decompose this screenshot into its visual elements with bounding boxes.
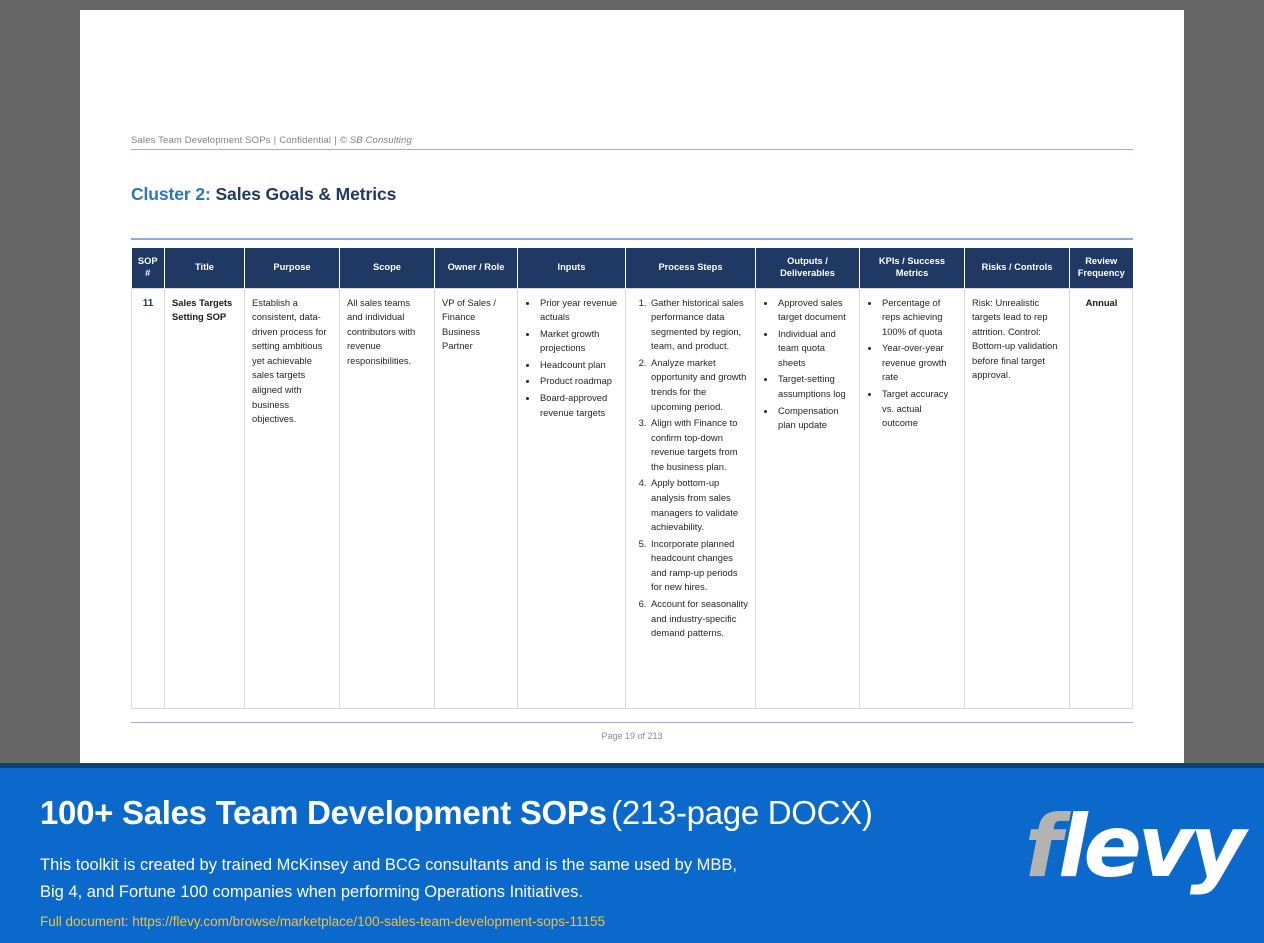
inputs-list: Prior year revenue actualsMarket growth … bbox=[525, 296, 619, 421]
running-header-copyright: © SB Consulting bbox=[340, 135, 412, 146]
cell-inputs: Prior year revenue actualsMarket growth … bbox=[518, 288, 626, 708]
column-header-title[interactable]: Title bbox=[165, 248, 245, 288]
outputs-list: Approved sales target documentIndividual… bbox=[763, 296, 853, 433]
page-number-label: Page 19 of 213 bbox=[131, 731, 1133, 741]
outputs-header-line-1: Outputs / bbox=[787, 256, 828, 266]
cell-title: Sales Targets Setting SOP bbox=[165, 288, 245, 708]
cluster-title-prefix: Cluster 2: bbox=[131, 184, 211, 204]
cell-sop-number: 11 bbox=[132, 288, 165, 708]
running-header-line: Sales Team Development SOPs|Confidential… bbox=[131, 135, 1133, 146]
document-running-header: Sales Team Development SOPs|Confidential… bbox=[131, 135, 1133, 150]
flevy-logo-rest: levy bbox=[1058, 797, 1242, 897]
review-header-line-1: Review bbox=[1085, 256, 1117, 266]
page-title: Cluster 2: Sales Goals & Metrics bbox=[131, 184, 396, 205]
sop-header-line-2: # bbox=[145, 268, 150, 278]
promo-title-light: (213-page DOCX) bbox=[611, 794, 872, 831]
list-item: Apply bottom-up analysis from sales mana… bbox=[649, 476, 749, 534]
running-header-classification: Confidential bbox=[279, 135, 331, 146]
list-item: Analyze market opportunity and growth tr… bbox=[649, 356, 749, 414]
list-item: Board-approved revenue targets bbox=[538, 391, 619, 420]
cell-owner-role: VP of Sales / Finance Business Partner bbox=[435, 288, 518, 708]
list-item: Percentage of reps achieving 100% of quo… bbox=[880, 296, 958, 340]
list-item: Gather historical sales performance data… bbox=[649, 296, 749, 354]
promo-subtitle-line-2: Big 4, and Fortune 100 companies when pe… bbox=[40, 883, 583, 901]
cell-scope: All sales teams and individual contribut… bbox=[340, 288, 435, 708]
list-item: Year-over-year revenue growth rate bbox=[880, 341, 958, 385]
flevy-logo-f: f bbox=[1025, 797, 1058, 897]
review-header-line-2: Frequency bbox=[1078, 268, 1125, 278]
cell-kpis-success-metrics: Percentage of reps achieving 100% of quo… bbox=[860, 288, 965, 708]
outputs-header-line-2: Deliverables bbox=[780, 268, 835, 278]
list-item: Compensation plan update bbox=[776, 404, 853, 433]
column-header-scope[interactable]: Scope bbox=[340, 248, 435, 288]
list-item: Target accuracy vs. actual outcome bbox=[880, 387, 958, 431]
running-header-title: Sales Team Development SOPs bbox=[131, 135, 271, 146]
cluster-title-name: Sales Goals & Metrics bbox=[215, 184, 396, 204]
list-item: Incorporate planned headcount changes an… bbox=[649, 537, 749, 595]
document-page: Sales Team Development SOPs|Confidential… bbox=[80, 10, 1184, 763]
list-item: Align with Finance to confirm top-down r… bbox=[649, 416, 749, 474]
column-header-inputs[interactable]: Inputs bbox=[518, 248, 626, 288]
column-header-risks-controls[interactable]: Risks / Controls bbox=[965, 248, 1070, 288]
column-header-kpis-success-metrics[interactable]: KPIs / SuccessMetrics bbox=[860, 248, 965, 288]
promo-subtitle-line-1: This toolkit is created by trained McKin… bbox=[40, 856, 737, 874]
column-header-purpose[interactable]: Purpose bbox=[245, 248, 340, 288]
column-header-review-frequency[interactable]: ReviewFrequency bbox=[1070, 248, 1133, 288]
list-item: Product roadmap bbox=[538, 374, 619, 389]
kpis-header-line-2: Metrics bbox=[896, 268, 929, 278]
process-steps-list: Gather historical sales performance data… bbox=[633, 296, 749, 641]
cell-outputs-deliverables: Approved sales target documentIndividual… bbox=[756, 288, 860, 708]
list-item: Market growth projections bbox=[538, 327, 619, 356]
sop-header-line-1: SOP bbox=[138, 256, 158, 266]
document-footer: Page 19 of 213 bbox=[131, 722, 1133, 741]
kpis-header-line-1: KPIs / Success bbox=[879, 256, 945, 266]
table-header-row: SOP# Title Purpose Scope Owner / Role In… bbox=[132, 248, 1133, 288]
promo-document-link[interactable]: Full document: https://flevy.com/browse/… bbox=[40, 914, 605, 929]
title-divider-rule bbox=[131, 238, 1133, 240]
list-item: Prior year revenue actuals bbox=[538, 296, 619, 325]
running-header-separator-1: | bbox=[271, 135, 280, 146]
promo-subtitle: This toolkit is created by trained McKin… bbox=[40, 852, 737, 906]
list-item: Account for seasonality and industry-spe… bbox=[649, 597, 749, 641]
cell-review-frequency: Annual bbox=[1070, 288, 1133, 708]
list-item: Approved sales target document bbox=[776, 296, 853, 325]
running-header-separator-2: | bbox=[331, 135, 340, 146]
cell-risks-controls: Risk: Unrealistic targets lead to rep at… bbox=[965, 288, 1070, 708]
column-header-sop-number[interactable]: SOP# bbox=[132, 248, 165, 288]
list-item: Headcount plan bbox=[538, 358, 619, 373]
table-row: 11 Sales Targets Setting SOP Establish a… bbox=[132, 288, 1133, 708]
flevy-logo[interactable]: flevy bbox=[1025, 804, 1242, 890]
column-header-process-steps[interactable]: Process Steps bbox=[626, 248, 756, 288]
list-item: Target-setting assumptions log bbox=[776, 372, 853, 401]
promo-title: 100+ Sales Team Development SOPs (213-pa… bbox=[40, 794, 873, 832]
list-item: Individual and team quota sheets bbox=[776, 327, 853, 371]
cell-purpose: Establish a consistent, data-driven proc… bbox=[245, 288, 340, 708]
sop-table: SOP# Title Purpose Scope Owner / Role In… bbox=[131, 248, 1133, 709]
column-header-owner-role[interactable]: Owner / Role bbox=[435, 248, 518, 288]
promo-title-strong: 100+ Sales Team Development SOPs bbox=[40, 794, 607, 831]
cell-process-steps: Gather historical sales performance data… bbox=[626, 288, 756, 708]
promo-banner: 100+ Sales Team Development SOPs (213-pa… bbox=[0, 763, 1264, 943]
kpis-list: Percentage of reps achieving 100% of quo… bbox=[867, 296, 958, 431]
column-header-outputs-deliverables[interactable]: Outputs /Deliverables bbox=[756, 248, 860, 288]
